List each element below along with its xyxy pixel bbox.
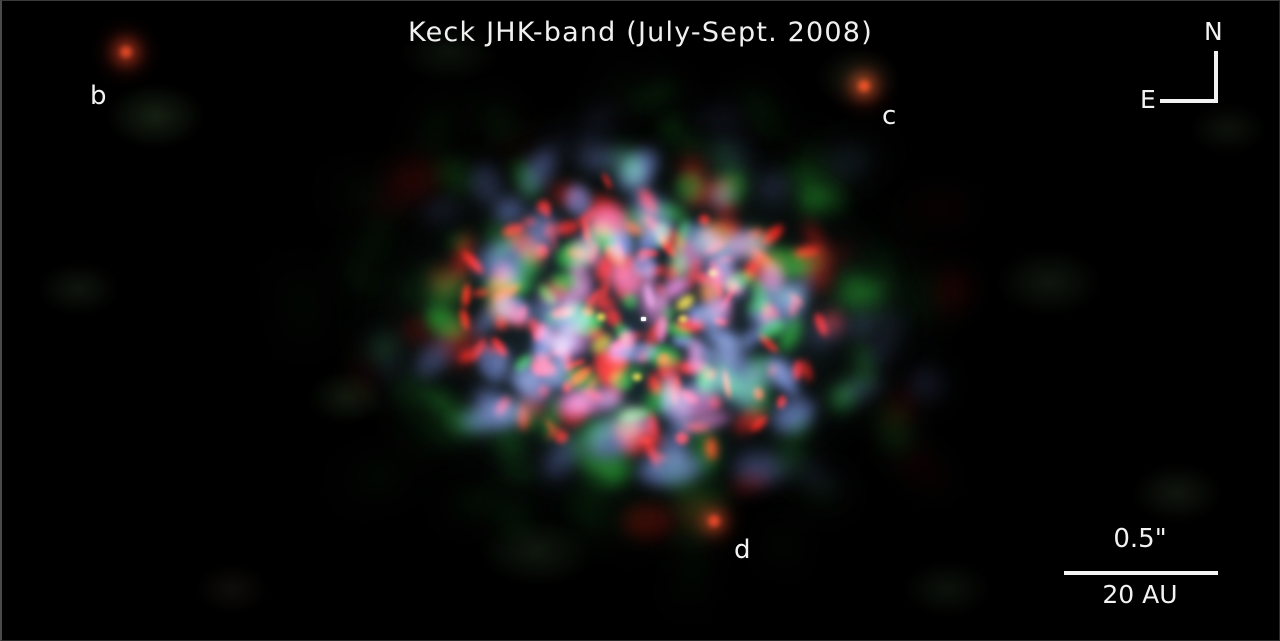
speckle: [677, 314, 689, 324]
astronomy-figure: bcd Keck JHK-band (July-Sept. 2008) N E …: [0, 0, 1280, 641]
speckle: [631, 372, 643, 382]
speckle: [493, 133, 541, 162]
scale-bar: 0.5" 20 AU: [1054, 526, 1234, 616]
planet-label-b: b: [90, 83, 107, 109]
speckle: [285, 269, 320, 342]
scale-physical-label: 20 AU: [1054, 582, 1226, 607]
speckle: [493, 312, 511, 334]
planet-label-c: c: [882, 103, 897, 129]
compass-rose: N E: [1142, 13, 1262, 123]
speckle: [767, 527, 798, 563]
planet-source-d: [707, 514, 720, 527]
speckle: [798, 356, 816, 385]
speckle: [345, 453, 414, 499]
compass-east-line: [1160, 99, 1218, 103]
star-position-marker: [641, 317, 646, 321]
compass-east-label: E: [1140, 87, 1156, 112]
scale-bar-line: [1064, 571, 1218, 575]
speckle: [791, 471, 848, 512]
figure-title: Keck JHK-band (July-Sept. 2008): [2, 17, 1279, 48]
speckle: [595, 312, 607, 322]
speckle: [883, 432, 958, 502]
compass-north-line: [1214, 51, 1218, 103]
speckle: [902, 195, 974, 222]
compass-north-label: N: [1204, 19, 1223, 44]
scale-angular-label: 0.5": [1054, 526, 1226, 552]
planet-label-d: d: [734, 537, 751, 563]
